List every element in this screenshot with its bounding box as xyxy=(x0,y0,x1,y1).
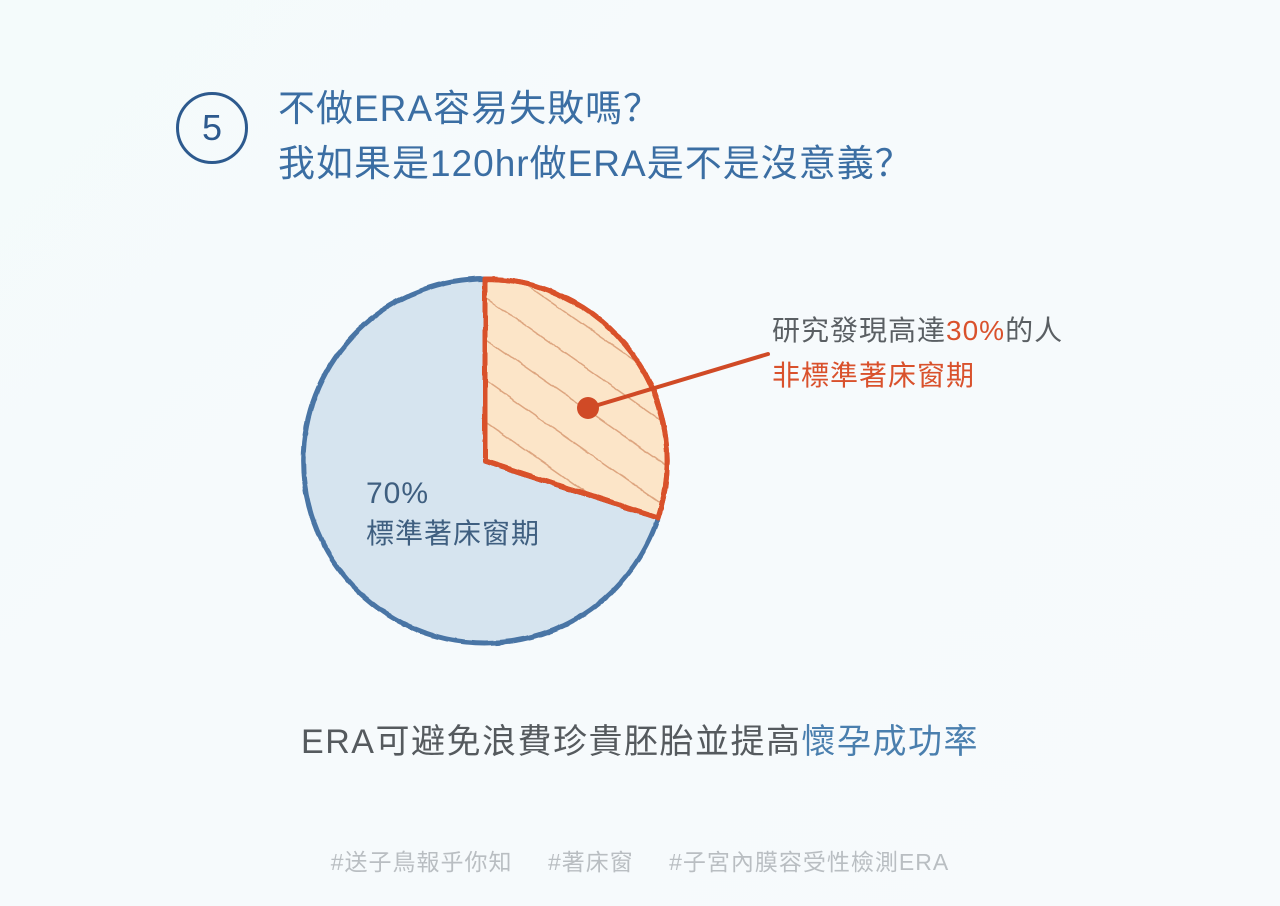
hashtag-3[interactable]: #子宮內膜容受性檢測ERA xyxy=(669,849,949,875)
question-number-badge: 5 xyxy=(176,92,248,164)
summary-caption: ERA可避免浪費珍貴胚胎並提高懷孕成功率 xyxy=(0,714,1280,763)
pie-inline-label: 70% 標準著床窗期 xyxy=(366,474,540,553)
question-number: 5 xyxy=(202,110,222,146)
callout-suffix: 的人 xyxy=(1005,315,1063,346)
caption-text-highlight: 懷孕成功率 xyxy=(801,723,979,761)
callout-line-2: 非標準著床窗期 xyxy=(772,353,1063,398)
callout-leader-line xyxy=(588,354,768,408)
pie-inline-percent: 70% xyxy=(366,474,540,515)
heading-line-1: 不做ERA容易失敗嗎？ xyxy=(278,82,913,137)
pie-slice-hatch xyxy=(300,260,700,660)
caption-text-plain: ERA可避免浪費珍貴胚胎並提高 xyxy=(301,723,801,761)
question-header: 5 不做ERA容易失敗嗎？ 我如果是120hr做ERA是不是沒意義？ xyxy=(176,78,913,192)
callout-annotation: 研究發現高達30%的人 非標準著床窗期 xyxy=(772,308,1063,399)
callout-prefix: 研究發現高達 xyxy=(772,315,946,346)
hashtag-1[interactable]: #送子鳥報乎你知 xyxy=(331,849,513,875)
hashtag-2[interactable]: #著床窗 xyxy=(548,849,634,875)
callout-line-1: 研究發現高達30%的人 xyxy=(772,308,1063,353)
pie-inline-description: 標準著床窗期 xyxy=(366,515,540,553)
callout-highlight-percent: 30% xyxy=(946,315,1005,346)
question-heading: 不做ERA容易失敗嗎？ 我如果是120hr做ERA是不是沒意義？ xyxy=(278,78,913,192)
callout-dot xyxy=(577,397,599,419)
heading-line-2: 我如果是120hr做ERA是不是沒意義？ xyxy=(278,137,913,192)
pie-slice-standard xyxy=(303,279,658,643)
hashtag-row: #送子鳥報乎你知 #著床窗 #子宮內膜容受性檢測ERA xyxy=(0,843,1280,877)
